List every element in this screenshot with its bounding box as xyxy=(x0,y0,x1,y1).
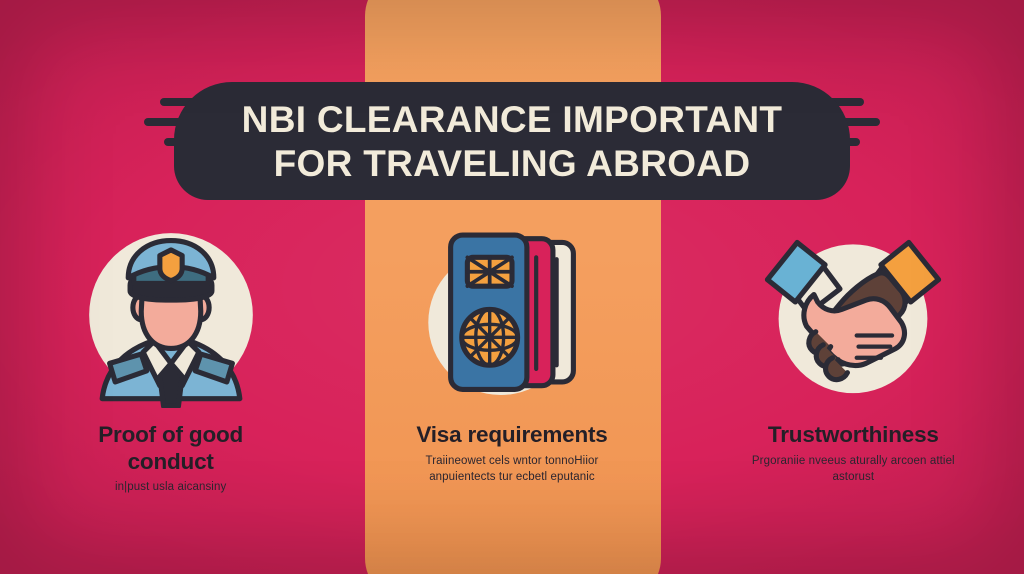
title-banner-group: NBI CLEARANCE IMPORTANT FOR TRAVELING AB… xyxy=(0,82,1024,200)
police-officer-icon xyxy=(78,222,264,408)
infographic-canvas: NBI CLEARANCE IMPORTANT FOR TRAVELING AB… xyxy=(0,0,1024,574)
column-title: Visa requirements xyxy=(416,422,607,449)
column-title: Trustworthiness xyxy=(768,422,939,449)
benefit-columns: Proof of good conduct in|pust usla aican… xyxy=(0,222,1024,522)
column-subtitle: Prgoraniie nveeus aturally arcoen attiel… xyxy=(737,453,969,486)
column-visa-requirements: Visa requirements Traiineowet cels wntor… xyxy=(341,222,682,522)
column-trustworthiness: Trustworthiness Prgoraniie nveeus atural… xyxy=(683,222,1024,522)
column-proof-of-good-conduct: Proof of good conduct in|pust usla aican… xyxy=(0,222,341,522)
title-banner: NBI CLEARANCE IMPORTANT FOR TRAVELING AB… xyxy=(174,82,850,200)
column-title: Proof of good conduct xyxy=(56,422,286,475)
handshake-icon xyxy=(760,222,946,408)
column-subtitle: in|pust usla aicansiny xyxy=(115,479,226,495)
title-line-1: NBI CLEARANCE IMPORTANT xyxy=(242,101,783,138)
passport-icon xyxy=(419,222,605,408)
column-subtitle: Traiineowet cels wntor tonnoHiior anpuie… xyxy=(396,453,628,486)
title-line-2: FOR TRAVELING ABROAD xyxy=(274,145,751,182)
